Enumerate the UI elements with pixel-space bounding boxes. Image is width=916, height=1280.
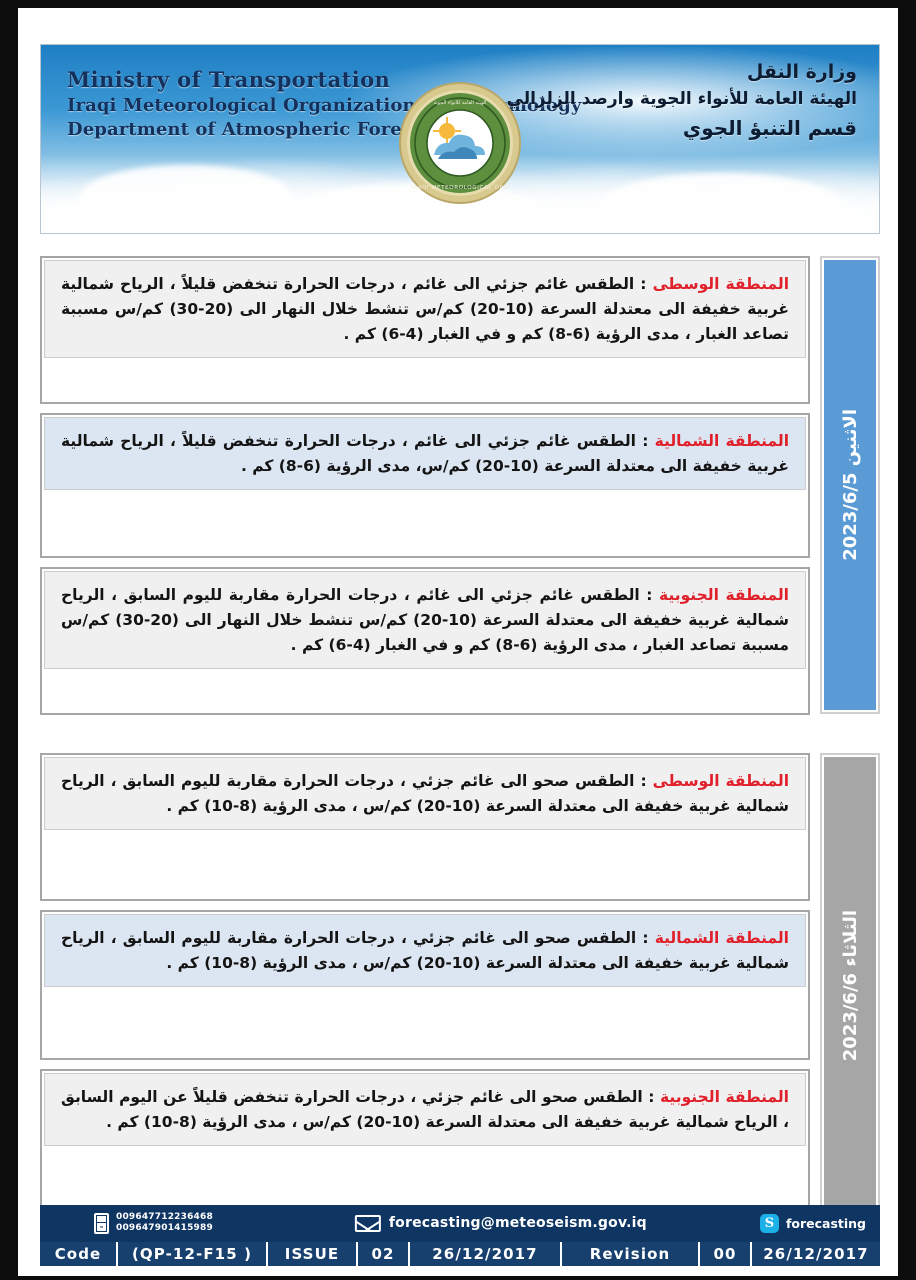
footer-code-row: Code (QP-12-F15 ) ISSUE 02 26/12/2017 Re… [40, 1241, 880, 1266]
forecast-block-body: المنطقة الشمالية : الطقس غائم جزئي الى غ… [44, 417, 806, 490]
revision-cell-date: 26/12/2017 [752, 1242, 880, 1266]
forecast-text: المنطقة الجنوبية : الطقس صحو الى غائم جز… [61, 1085, 789, 1135]
forecast-block-body: المنطقة الشمالية : الطقس صحو الى غائم جز… [44, 914, 806, 987]
forecast-text: المنطقة الوسطى : الطقس صحو الى غائم جزئي… [61, 769, 789, 819]
forecast-block: المنطقة الوسطى : الطقس صحو الى غائم جزئي… [40, 753, 810, 901]
envelope-icon [355, 1215, 381, 1232]
forecast-section-day1: المنطقة الوسطى : الطقس غائم جزئي الى غائ… [40, 256, 880, 718]
forecast-blocks-day2: المنطقة الوسطى : الطقس صحو الى غائم جزئي… [40, 753, 810, 1230]
issue-cell-date: 26/12/2017 [410, 1242, 562, 1266]
date-rail-fill: الثلاثاء 2023/6/6 [824, 757, 876, 1214]
date-label: الثلاثاء 2023/6/6 [840, 910, 861, 1061]
phone-number-1: 009647712236468 [116, 1212, 213, 1222]
footer-contact-bar: 009647712236468 009647901415989 forecast… [40, 1205, 880, 1241]
document-page: Ministry of Transportation Iraqi Meteoro… [18, 8, 898, 1276]
ministry-line-ar: وزارة النقل [507, 61, 857, 83]
issue-cell-label: ISSUE [268, 1242, 358, 1266]
date-label: الاثنين 2023/6/5 [840, 409, 861, 561]
header-banner: Ministry of Transportation Iraqi Meteoro… [40, 44, 880, 234]
phone-icon [94, 1213, 109, 1234]
forecast-block: المنطقة الشمالية : الطقس صحو الى غائم جز… [40, 910, 810, 1060]
region-separator: : [634, 275, 652, 293]
phone-number-2: 009647901415989 [116, 1223, 213, 1233]
organization-line-ar: الهيئة العامة للأنواء الجوية وارصد الزلز… [507, 89, 857, 109]
forecast-text: المنطقة الشمالية : الطقس صحو الى غائم جز… [61, 926, 789, 976]
phone-numbers: 009647712236468 009647901415989 [116, 1212, 213, 1235]
revision-cell-label: Revision [562, 1242, 700, 1266]
forecast-block-body: المنطقة الجنوبية : الطقس صحو الى غائم جز… [44, 1073, 806, 1146]
forecast-text: المنطقة الشمالية : الطقس غائم جزئي الى غ… [61, 429, 789, 479]
region-label: المنطقة الشمالية [655, 432, 789, 450]
region-label: المنطقة الوسطى [653, 772, 789, 790]
issue-cell-value: 02 [358, 1242, 410, 1266]
email-address[interactable]: forecasting@meteoseism.gov.iq [389, 1215, 647, 1231]
department-line-ar: قسم التنبؤ الجوي [507, 116, 857, 140]
region-separator: : [640, 586, 659, 604]
forecast-section-day2: المنطقة الوسطى : الطقس صحو الى غائم جزئي… [40, 753, 880, 1221]
revision-cell-value: 00 [700, 1242, 752, 1266]
forecast-block: المنطقة الوسطى : الطقس غائم جزئي الى غائ… [40, 256, 810, 404]
forecast-block-body: المنطقة الوسطى : الطقس غائم جزئي الى غائ… [44, 260, 806, 358]
header-arabic-title: وزارة النقل الهيئة العامة للأنواء الجوية… [507, 61, 857, 140]
region-label: المنطقة الشمالية [655, 929, 789, 947]
forecast-text: المنطقة الوسطى : الطقس غائم جزئي الى غائ… [61, 272, 789, 347]
footer-email[interactable]: forecasting@meteoseism.gov.iq [355, 1215, 647, 1232]
forecast-block: المنطقة الشمالية : الطقس غائم جزئي الى غ… [40, 413, 810, 558]
code-cell-label: Code [40, 1242, 118, 1266]
region-separator: : [643, 1088, 660, 1106]
skype-handle[interactable]: forecasting [786, 1216, 866, 1231]
region-label: المنطقة الوسطى [653, 275, 789, 293]
svg-text:IRAQI METEOROLOGICAL ORG: IRAQI METEOROLOGICAL ORG [411, 185, 509, 191]
document-footer: 009647712236468 009647901415989 forecast… [40, 1205, 880, 1266]
footer-phone: 009647712236468 009647901415989 [94, 1212, 213, 1235]
svg-text:الهيئة العامة للانواء الجوية: الهيئة العامة للانواء الجوية [434, 100, 487, 106]
forecast-block: المنطقة الجنوبية : الطقس صحو الى غائم جز… [40, 1069, 810, 1221]
region-separator: : [634, 772, 652, 790]
region-label: المنطقة الجنوبية [659, 586, 789, 604]
date-rail-day2: الثلاثاء 2023/6/6 [820, 753, 880, 1218]
region-separator: : [636, 929, 654, 947]
forecast-block: المنطقة الجنوبية : الطقس غائم جزئي الى غ… [40, 567, 810, 715]
date-rail-fill: الاثنين 2023/6/5 [824, 260, 876, 710]
region-separator: : [636, 432, 655, 450]
region-label: المنطقة الجنوبية [660, 1088, 789, 1106]
organization-seal-icon: الهيئة العامة للانواء الجوية IRAQI METEO… [398, 81, 522, 205]
footer-skype[interactable]: S forecasting [760, 1214, 866, 1233]
forecast-block-body: المنطقة الجنوبية : الطقس غائم جزئي الى غ… [44, 571, 806, 669]
date-rail-day1: الاثنين 2023/6/5 [820, 256, 880, 714]
code-cell-value: (QP-12-F15 ) [118, 1242, 268, 1266]
forecast-block-body: المنطقة الوسطى : الطقس صحو الى غائم جزئي… [44, 757, 806, 830]
forecast-blocks-day1: المنطقة الوسطى : الطقس غائم جزئي الى غائ… [40, 256, 810, 724]
skype-icon: S [760, 1214, 779, 1233]
forecast-text: المنطقة الجنوبية : الطقس غائم جزئي الى غ… [61, 583, 789, 658]
